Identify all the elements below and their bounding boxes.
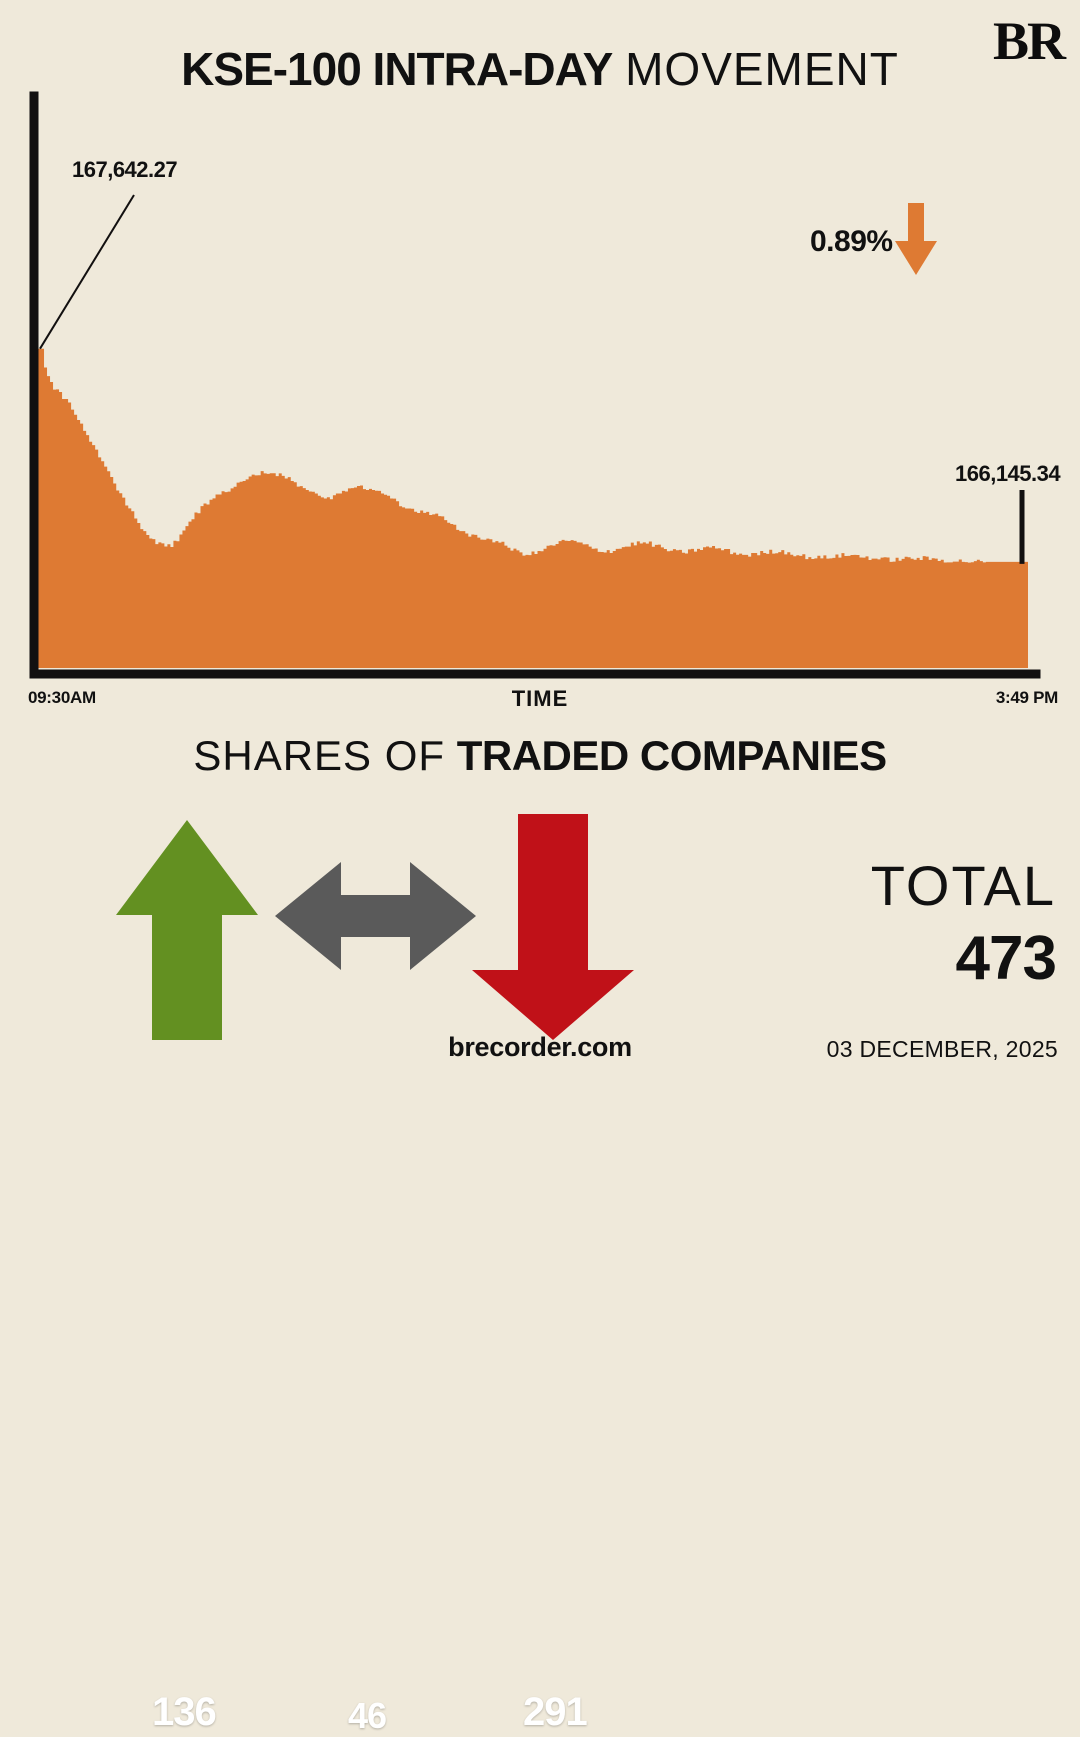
leader-line-high: [40, 195, 134, 349]
axis-label-end: 3:49 PM: [996, 688, 1058, 708]
page-title-bold: KSE-100 INTRA-DAY: [181, 43, 612, 95]
axis-label-time: TIME: [0, 686, 1080, 712]
breadth-arrows: 136 46 291: [0, 800, 700, 1040]
arrow-up-icon: [116, 820, 258, 1040]
subtitle-light: SHARES OF: [193, 732, 445, 779]
arrow-down-big-icon: [472, 814, 634, 1040]
declined-count: 291: [523, 1690, 587, 1735]
page-title-light: MOVEMENT: [625, 43, 899, 95]
unchanged-count: 46: [348, 1695, 386, 1737]
page-title: KSE-100 INTRA-DAY MOVEMENT: [0, 46, 1080, 92]
breadth-arrow-group: [0, 800, 700, 1040]
advanced-count: 136: [152, 1690, 216, 1735]
intraday-high-label: 167,642.27: [72, 157, 177, 183]
area-series-kse100: [38, 349, 1028, 668]
subtitle-bold: TRADED COMPANIES: [457, 732, 887, 779]
total-value: 473: [696, 928, 1056, 990]
arrow-down-icon: [895, 203, 937, 275]
change-percent: 0.89%: [810, 225, 893, 259]
arrow-left-right-icon: [275, 862, 476, 970]
infographic-canvas: BR KSE-100 INTRA-DAY MOVEMENT 167,642.27…: [0, 0, 1080, 1080]
closing-value-label: 166,145.34: [955, 461, 1060, 487]
publish-date: 03 DECEMBER, 2025: [827, 1036, 1058, 1063]
section-subtitle: SHARES OF TRADED COMPANIES: [0, 735, 1080, 777]
total-label: TOTAL: [696, 858, 1056, 914]
